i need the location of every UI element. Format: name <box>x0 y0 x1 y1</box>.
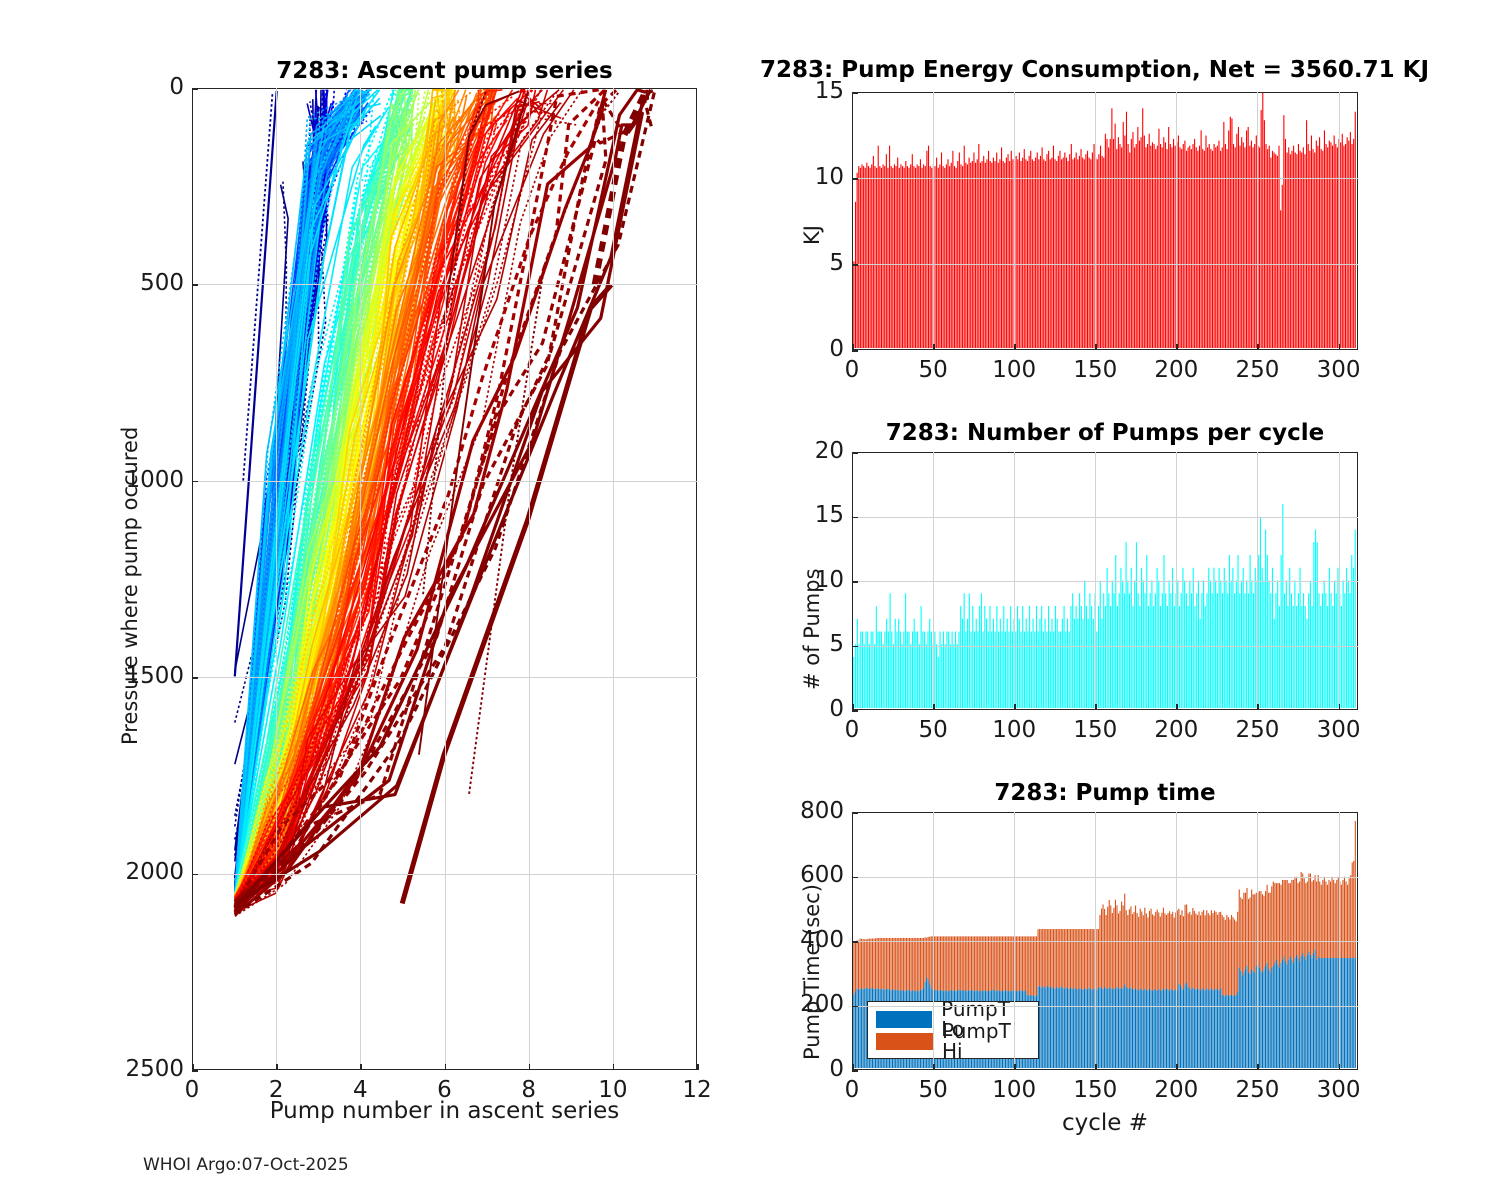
bar <box>1077 619 1078 708</box>
bar-pumpt-hi <box>1319 882 1320 959</box>
bar-pumpt-hi <box>1154 916 1155 989</box>
bar-pumpt-hi <box>1215 912 1216 989</box>
bar <box>1189 146 1190 348</box>
bar <box>1142 108 1143 348</box>
y-tickmark <box>852 941 858 943</box>
bar-pumpt-lo <box>1137 990 1138 1068</box>
bar <box>985 163 986 348</box>
bar <box>1231 119 1232 349</box>
bar <box>1186 593 1187 708</box>
pumps-per-cycle-title: 7283: Number of Pumps per cycle <box>852 420 1358 446</box>
bar <box>1263 581 1264 709</box>
bar-pumpt-lo <box>1121 988 1122 1068</box>
bar <box>1220 581 1221 709</box>
bar-pumpt-hi <box>1345 882 1346 959</box>
bar <box>890 593 891 708</box>
bar-pumpt-hi <box>1133 912 1134 990</box>
bar <box>1223 122 1224 348</box>
bar <box>1034 632 1035 709</box>
bar-pumpt-lo <box>1262 972 1263 1068</box>
bar <box>1100 146 1101 348</box>
bar-pumpt-hi <box>1126 910 1127 987</box>
bar <box>1057 619 1058 708</box>
bar <box>907 166 908 348</box>
bar <box>1343 581 1344 709</box>
bar-pumpt-hi <box>1194 911 1195 989</box>
bar-pumpt-hi <box>890 938 891 990</box>
bar-pumpt-lo <box>1279 968 1280 1068</box>
bar <box>898 619 899 708</box>
pump-energy-axes[interactable] <box>852 92 1358 350</box>
bar <box>861 164 862 348</box>
bar <box>1064 153 1065 349</box>
bar <box>1032 159 1033 348</box>
bar-pumpt-hi <box>895 938 896 991</box>
gridline-vertical <box>1176 92 1177 350</box>
bar <box>1157 568 1158 708</box>
bar <box>920 159 921 348</box>
bar <box>1009 161 1010 348</box>
bar <box>1296 606 1297 708</box>
bar <box>1278 146 1279 348</box>
bar-pumpt-lo <box>1353 958 1354 1068</box>
bar <box>1210 581 1211 709</box>
bar-pumpt-lo <box>1307 955 1308 1068</box>
bar-pumpt-hi <box>1076 929 1077 989</box>
x-tickmark <box>933 704 935 710</box>
bar <box>1030 151 1031 348</box>
bar-pumpt-hi <box>1305 883 1306 960</box>
bar-pumpt-lo <box>1276 960 1277 1068</box>
bar <box>1172 568 1173 708</box>
bar-pumpt-lo <box>1147 991 1148 1068</box>
bar <box>1345 144 1346 348</box>
bar <box>1106 139 1107 348</box>
bar <box>909 168 910 348</box>
bar <box>939 632 940 709</box>
bar-pumpt-lo <box>1178 984 1179 1068</box>
bar-pumpt-lo <box>1322 958 1323 1068</box>
x-tickmark <box>1014 344 1016 350</box>
bar-pumpt-hi <box>1189 912 1190 989</box>
bar <box>1303 593 1304 708</box>
bar <box>858 166 859 348</box>
bar-pumpt-lo <box>1118 988 1119 1068</box>
bar <box>1079 156 1080 348</box>
bar-pumpt-lo <box>1254 972 1255 1068</box>
bar-pumpt-hi <box>1104 909 1105 987</box>
bar-pumpt-lo <box>1205 990 1206 1068</box>
x-tick-label: 200 <box>1136 717 1216 743</box>
bar <box>998 163 999 348</box>
x-tick-label: 12 <box>657 1077 737 1103</box>
bar-pumpt-hi <box>1242 899 1243 976</box>
bar <box>1201 130 1202 348</box>
y-tickmark <box>852 1006 858 1008</box>
bar <box>1031 632 1032 709</box>
x-tick-label: 4 <box>320 1077 400 1103</box>
bar <box>936 158 937 348</box>
bar-pumpt-hi <box>1229 919 1230 995</box>
bar-pumpt-hi <box>867 939 868 988</box>
bar-pumpt-hi <box>1124 894 1125 985</box>
bar-pumpt-hi <box>1301 872 1302 956</box>
bar-pumpt-hi <box>1106 915 1107 988</box>
bar-pumpt-hi <box>1254 894 1255 972</box>
bar-pumpt-hi <box>907 938 908 990</box>
bar-pumpt-hi <box>1353 861 1354 958</box>
bar <box>989 606 990 708</box>
bar-pumpt-hi <box>1033 936 1034 995</box>
bar <box>917 632 918 709</box>
bar <box>903 632 904 709</box>
bar <box>1065 632 1066 709</box>
bar-pumpt-hi <box>1141 911 1142 989</box>
bar <box>868 166 869 348</box>
bar <box>1170 144 1171 348</box>
bar-pumpt-hi <box>971 936 972 990</box>
bar-pumpt-hi <box>1310 874 1311 955</box>
bar-pumpt-hi <box>957 936 958 990</box>
bar <box>1005 632 1006 709</box>
bar <box>1298 144 1299 348</box>
bar-pumpt-lo <box>1260 971 1261 1068</box>
bar-pumpt-hi <box>1273 882 1274 966</box>
bar-pumpt-hi <box>1268 893 1269 970</box>
bar-pumpt-hi <box>898 938 899 990</box>
x-tick-label: 8 <box>489 1077 569 1103</box>
bar <box>962 166 963 348</box>
x-tick-label: 100 <box>974 717 1054 743</box>
bar <box>1090 159 1091 348</box>
bar <box>879 632 880 709</box>
bar-pumpt-lo <box>1341 958 1342 1068</box>
bar-pumpt-hi <box>1079 929 1080 988</box>
bar-pumpt-hi <box>1185 905 1186 985</box>
bar-pumpt-lo <box>1076 989 1077 1068</box>
bar <box>1238 127 1239 348</box>
bar <box>1002 632 1003 709</box>
bar <box>1227 593 1228 708</box>
bar-pumpt-lo <box>1342 958 1343 1068</box>
bar <box>980 163 981 348</box>
bar <box>1203 581 1204 709</box>
gridline-horizontal <box>192 677 697 678</box>
bar-pumpt-hi <box>1020 936 1021 990</box>
bar-pumpt-lo <box>1243 972 1244 1068</box>
bar <box>1228 130 1229 348</box>
y-tick-label: 600 <box>744 862 844 888</box>
bar <box>1217 593 1218 708</box>
bar <box>1076 153 1077 349</box>
bar-pumpt-lo <box>1152 991 1153 1068</box>
bar-pumpt-hi <box>1277 883 1278 964</box>
bar <box>1163 555 1164 708</box>
bar-pumpt-lo <box>1194 989 1195 1068</box>
bar <box>999 159 1000 348</box>
bar <box>1036 606 1037 708</box>
bar <box>894 164 895 348</box>
bar-pumpt-hi <box>877 938 878 988</box>
y-tick-label: 15 <box>744 502 844 528</box>
bar <box>1123 122 1124 348</box>
bar-pumpt-hi <box>1263 896 1264 969</box>
bar-pumpt-hi <box>1087 929 1088 990</box>
bar <box>1170 593 1171 708</box>
bar-pumpt-hi <box>1336 880 1337 958</box>
bar <box>1092 153 1093 349</box>
bar-pumpt-hi <box>1164 913 1165 990</box>
bar <box>1244 593 1245 708</box>
bar <box>1128 144 1129 348</box>
bar <box>1254 144 1255 348</box>
bar <box>1287 606 1288 708</box>
bar-pumpt-hi <box>1239 890 1240 968</box>
bar <box>957 161 958 348</box>
bar-pumpt-lo <box>1327 958 1328 1068</box>
bar-pumpt-hi <box>1344 877 1345 958</box>
bar <box>915 632 916 709</box>
bar-pumpt-lo <box>1055 989 1056 1068</box>
bar-pumpt-hi <box>1149 911 1150 989</box>
bar <box>1294 581 1295 709</box>
bar-pumpt-hi <box>983 936 984 990</box>
bar-pumpt-lo <box>1127 988 1128 1068</box>
bar <box>1291 151 1292 348</box>
bar <box>1103 158 1104 348</box>
bar-pumpt-hi <box>960 936 961 990</box>
bar-pumpt-hi <box>858 941 859 990</box>
bar-pumpt-lo <box>1064 989 1065 1068</box>
bar <box>1043 159 1044 348</box>
bar-pumpt-hi <box>1138 917 1139 990</box>
bar <box>1051 158 1052 348</box>
bar-pumpt-hi <box>966 936 967 991</box>
bar-pumpt-lo <box>1133 990 1134 1068</box>
bar-pumpt-lo <box>1048 987 1049 1068</box>
x-tick-label: 250 <box>1217 717 1297 743</box>
bar <box>910 644 911 708</box>
pump-time-ylabel: Pump Time (sec) <box>800 884 824 1060</box>
bar-pumpt-hi <box>1349 878 1350 958</box>
bar-pumpt-lo <box>1268 969 1269 1068</box>
y-tickmark <box>852 812 858 814</box>
bar <box>1209 144 1210 348</box>
bar-pumpt-hi <box>963 936 964 990</box>
bar <box>1330 142 1331 348</box>
y-tickmark <box>852 710 858 712</box>
bar-pumpt-lo <box>1090 989 1091 1068</box>
bar-pumpt-lo <box>1140 988 1141 1068</box>
bar <box>1137 127 1138 348</box>
bar-pumpt-lo <box>1106 988 1107 1068</box>
bar <box>924 632 925 709</box>
bar <box>870 168 871 348</box>
bar-pumpt-lo <box>1310 955 1311 1068</box>
gridline-vertical <box>613 88 614 1070</box>
bar-pumpt-lo <box>1061 986 1062 1068</box>
bar-pumpt-hi <box>1328 880 1329 958</box>
x-tick-label: 150 <box>1055 1077 1135 1103</box>
bar <box>871 164 872 348</box>
bar <box>1261 110 1262 348</box>
bar-pumpt-hi <box>1243 893 1244 973</box>
bar <box>931 632 932 709</box>
bar-pumpt-hi <box>903 938 904 991</box>
bar <box>1351 555 1352 708</box>
gridline-horizontal <box>192 874 697 875</box>
bar <box>974 632 975 709</box>
bar <box>1188 606 1189 708</box>
bar-pumpt-lo <box>1248 972 1249 1068</box>
bar <box>902 166 903 348</box>
bar-pumpt-hi <box>1212 913 1213 990</box>
bar-pumpt-hi <box>894 938 895 990</box>
bar <box>938 168 939 348</box>
bar <box>964 146 965 348</box>
bar <box>1353 139 1354 348</box>
bar-pumpt-lo <box>1208 990 1209 1068</box>
ascent-pump-series-title: 7283: Ascent pump series <box>192 58 697 84</box>
y-tick-label: 0 <box>744 1056 844 1082</box>
bar <box>1290 154 1291 348</box>
y-tick-label: 2500 <box>84 1056 184 1082</box>
bar <box>910 164 911 348</box>
bar-pumpt-lo <box>1332 958 1333 1068</box>
bar <box>1120 568 1121 708</box>
bar-pumpt-hi <box>1313 880 1314 953</box>
bar <box>960 606 961 708</box>
bar-pumpt-hi <box>1290 883 1291 956</box>
bar-pumpt-lo <box>1093 988 1094 1068</box>
bar <box>1144 136 1145 349</box>
bar <box>1246 581 1247 709</box>
bar <box>1183 144 1184 348</box>
bar-pumpt-hi <box>1178 909 1179 984</box>
bar <box>1269 146 1270 348</box>
bar-pumpt-hi <box>962 936 963 991</box>
x-tickmark <box>1339 344 1341 350</box>
bar <box>1315 530 1316 709</box>
bar-pumpt-lo <box>1240 971 1241 1068</box>
bar <box>986 619 987 708</box>
bar <box>1267 555 1268 708</box>
bar <box>1022 158 1023 348</box>
bar-pumpt-hi <box>1169 911 1170 991</box>
y-tickmark <box>852 452 858 454</box>
gridline-vertical <box>1014 92 1015 350</box>
bar-pumpt-hi <box>1147 918 1148 991</box>
bar-pumpt-hi <box>1260 891 1261 971</box>
bar-pumpt-lo <box>1047 986 1048 1068</box>
bar <box>947 159 948 348</box>
bar-pumpt-lo <box>1098 988 1099 1068</box>
bar <box>927 632 928 709</box>
bar <box>1355 112 1356 348</box>
bar-pumpt-hi <box>1038 929 1039 986</box>
bar-pumpt-hi <box>948 936 949 991</box>
bar <box>1096 632 1097 709</box>
bar <box>1313 542 1314 708</box>
bar <box>876 606 877 708</box>
bar <box>928 146 929 348</box>
bar-pumpt-hi <box>1270 893 1271 973</box>
bar-pumpt-hi <box>1298 883 1299 958</box>
bar <box>1088 619 1089 708</box>
bar <box>862 632 863 709</box>
bar <box>1191 593 1192 708</box>
bar-pumpt-lo <box>1107 989 1108 1068</box>
bar-pumpt-lo <box>1081 989 1082 1068</box>
bar <box>1217 146 1218 348</box>
bar-pumpt-lo <box>1294 958 1295 1068</box>
bar-pumpt-hi <box>1073 929 1074 990</box>
bar <box>1124 136 1125 349</box>
bar-pumpt-lo <box>1296 955 1297 1068</box>
y-tick-label: 2000 <box>84 859 184 885</box>
bar-pumpt-lo <box>1078 990 1079 1068</box>
bar-pumpt-hi <box>1137 913 1138 990</box>
legend-label-pumpt-hi: PumpT Hi <box>942 1021 1030 1061</box>
bar <box>1050 159 1051 348</box>
bar <box>1017 159 1018 348</box>
bar-pumpt-lo <box>1044 987 1045 1068</box>
bar-pumpt-hi <box>945 936 946 990</box>
bar <box>912 154 913 348</box>
bar <box>1301 153 1302 349</box>
x-tick-label: 150 <box>1055 357 1135 383</box>
bar-pumpt-hi <box>965 936 966 990</box>
bar-pumpt-hi <box>1024 936 1025 991</box>
bar-pumpt-hi <box>1318 875 1319 956</box>
bar <box>1332 146 1333 348</box>
bar <box>853 261 854 348</box>
bar <box>1119 593 1120 708</box>
x-tickmark <box>1257 1064 1259 1070</box>
bar-pumpt-hi <box>1262 894 1263 972</box>
bar <box>1100 581 1101 709</box>
bar-pumpt-hi <box>979 936 980 991</box>
bar <box>915 168 916 348</box>
x-tick-label: 50 <box>893 357 973 383</box>
bar <box>1077 159 1078 348</box>
bar <box>1020 632 1021 709</box>
bar <box>1212 593 1213 708</box>
bar-pumpt-hi <box>1027 936 1028 995</box>
x-tick-label: 200 <box>1136 357 1216 383</box>
bar-pumpt-hi <box>1198 911 1199 989</box>
bar <box>1324 581 1325 709</box>
bar-pumpt-hi <box>1110 905 1111 988</box>
bar-pumpt-lo <box>1308 952 1309 1068</box>
bar-pumpt-hi <box>988 936 989 990</box>
bar-pumpt-hi <box>1347 885 1348 958</box>
bar-pumpt-hi <box>1072 929 1073 988</box>
bar-pumpt-lo <box>1115 989 1116 1068</box>
bar <box>983 156 984 348</box>
bar-pumpt-hi <box>914 938 915 991</box>
bar-pumpt-hi <box>969 936 970 991</box>
bar <box>1229 555 1230 708</box>
bar-pumpt-lo <box>1158 989 1159 1068</box>
y-tick-label: 800 <box>744 798 844 824</box>
bar-pumpt-hi <box>1028 936 1029 994</box>
bar-pumpt-hi <box>1250 897 1251 974</box>
bar <box>1314 153 1315 349</box>
legend-item-pumpt-hi[interactable]: PumpT Hi <box>876 1030 1030 1052</box>
bar <box>1158 129 1159 348</box>
bar <box>1150 593 1151 708</box>
